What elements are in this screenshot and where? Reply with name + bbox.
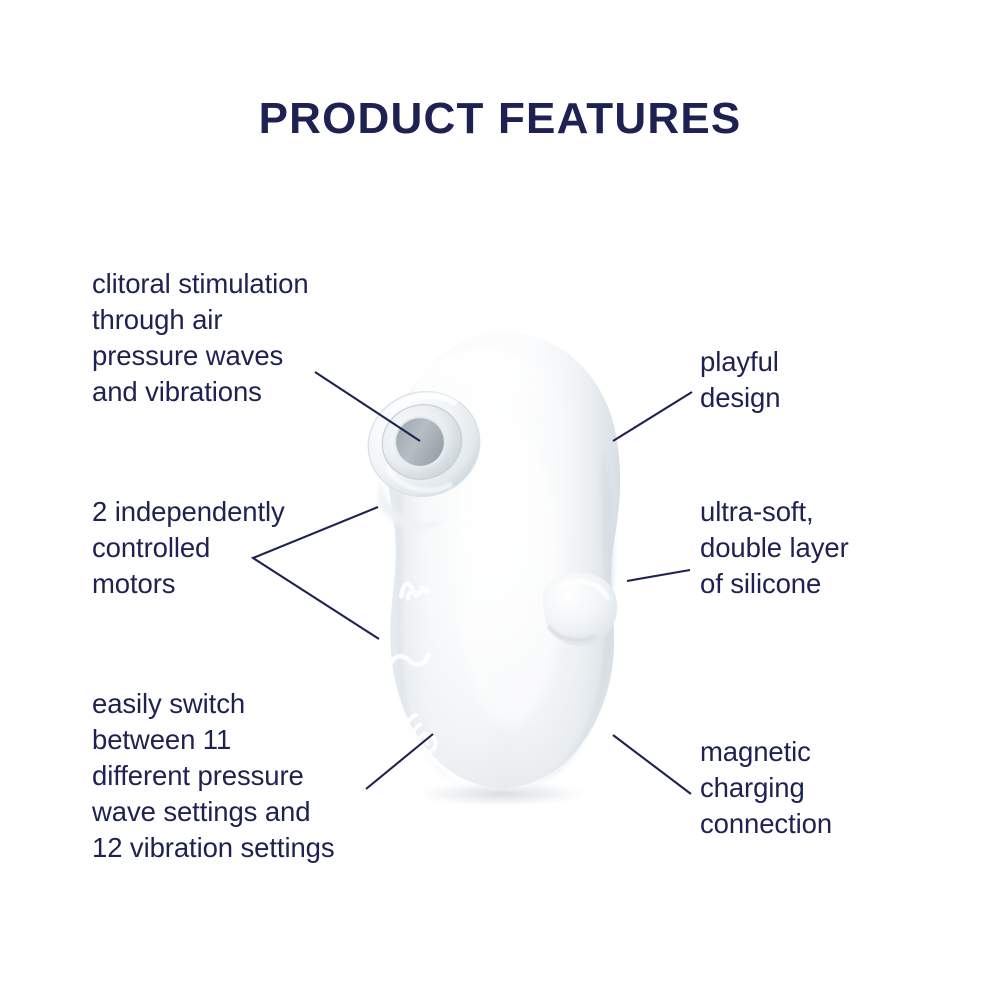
callout-silicone: ultra-soft, double layer of silicone bbox=[700, 494, 950, 602]
callout-playful-design: playful design bbox=[700, 344, 940, 416]
product-features-infographic: PRODUCT FEATURES bbox=[0, 0, 1000, 1000]
callout-motors: 2 independently controlled motors bbox=[92, 494, 392, 602]
callout-magnetic-charging: magnetic charging connection bbox=[700, 734, 950, 842]
callout-air-pressure: clitoral stimulation through air pressur… bbox=[92, 266, 392, 410]
page-title: PRODUCT FEATURES bbox=[0, 94, 1000, 144]
callout-settings: easily switch between 11 different press… bbox=[92, 686, 422, 866]
